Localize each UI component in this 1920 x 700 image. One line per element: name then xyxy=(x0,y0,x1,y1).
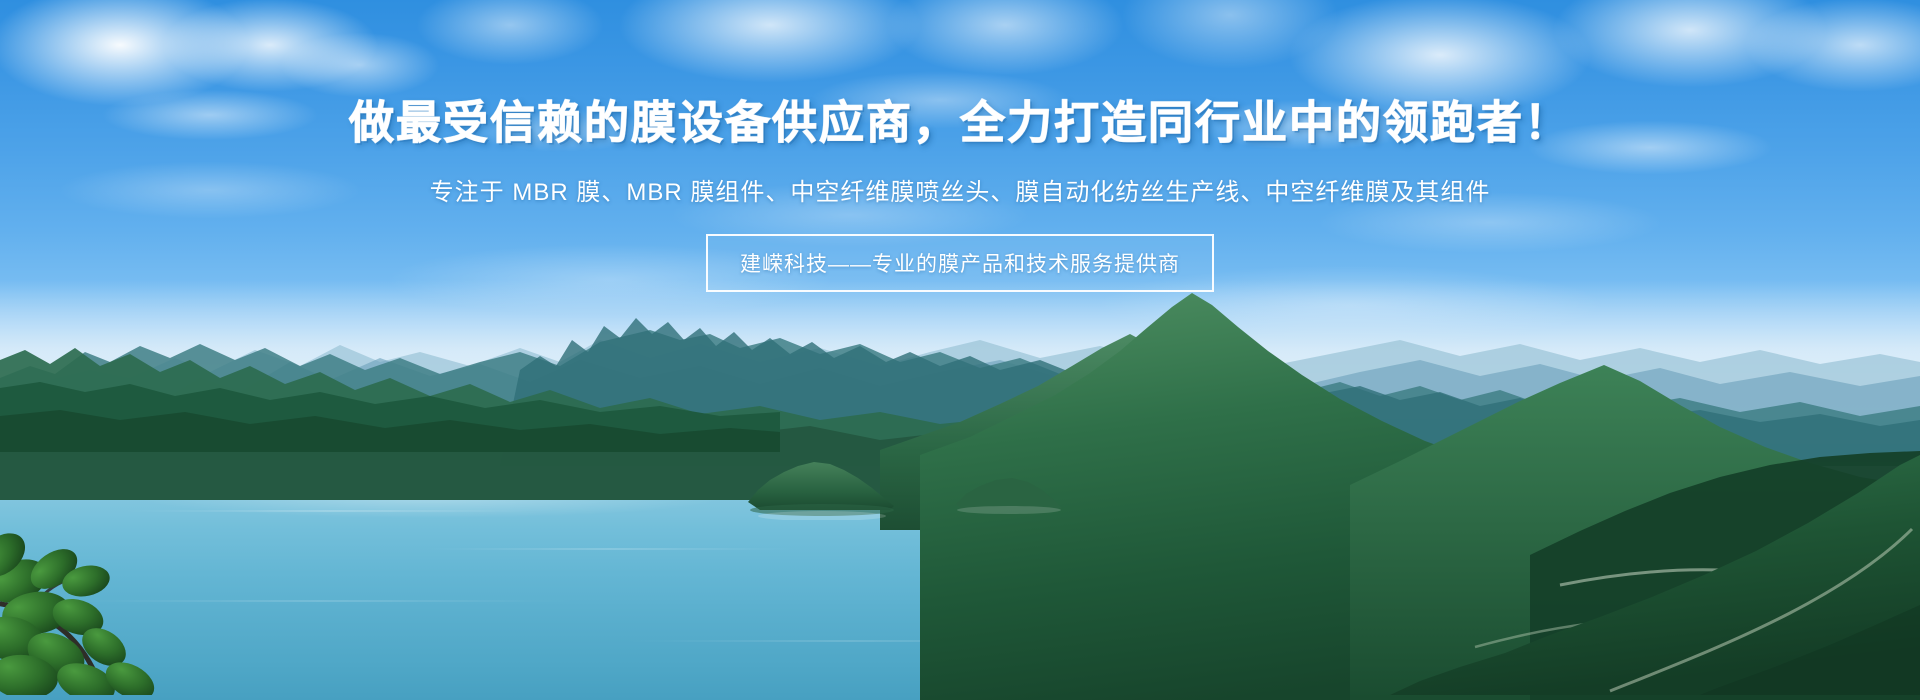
banner-headline: 做最受信赖的膜设备供应商，全力打造同行业中的领跑者！ xyxy=(349,100,1571,145)
banner-subtitle: 专注于 MBR 膜、MBR 膜组件、中空纤维膜喷丝头、膜自动化纺丝生产线、中空纤… xyxy=(430,172,1491,207)
banner-text-overlay: 做最受信赖的膜设备供应商，全力打造同行业中的领跑者！ 专注于 MBR 膜、MBR… xyxy=(0,0,1920,700)
banner-cta-button[interactable]: 建嵘科技——专业的膜产品和技术服务提供商 xyxy=(706,234,1214,292)
hero-banner: 做最受信赖的膜设备供应商，全力打造同行业中的领跑者！ 专注于 MBR 膜、MBR… xyxy=(0,0,1920,700)
